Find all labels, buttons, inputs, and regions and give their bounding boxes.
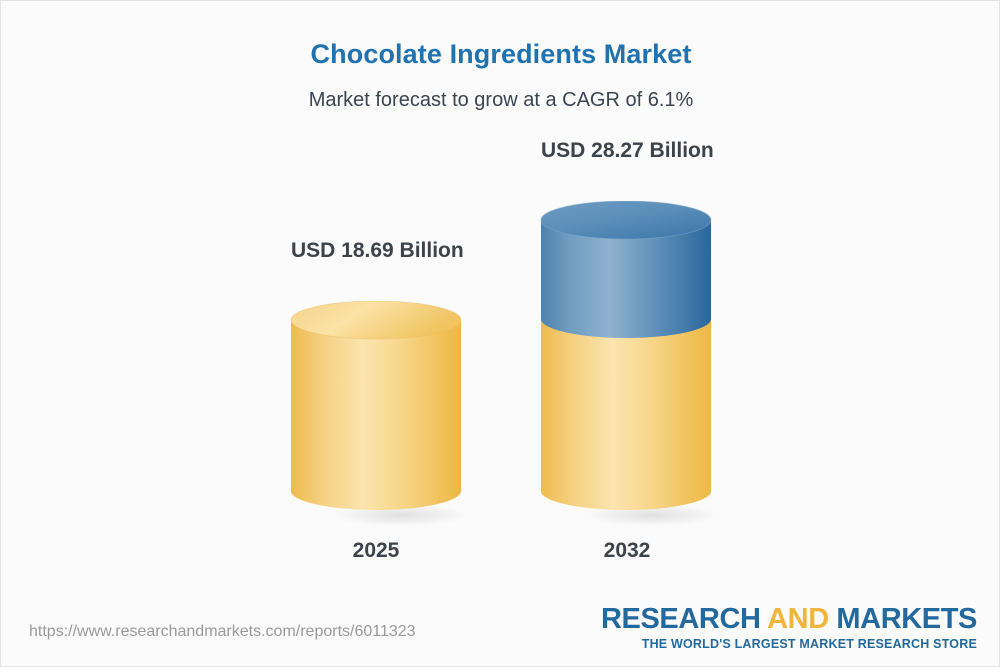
brand-tagline: THE WORLD'S LARGEST MARKET RESEARCH STOR… xyxy=(601,638,977,651)
chart-card: Chocolate Ingredients Market Market fore… xyxy=(0,0,1000,667)
category-label-2032: 2032 xyxy=(541,539,713,563)
bar-group-2025: USD 18.69 Billion xyxy=(291,301,461,511)
brand-wordmark: RESEARCH AND MARKETS xyxy=(601,605,977,634)
brand-logo[interactable]: RESEARCH AND MARKETS THE WORLD'S LARGEST… xyxy=(601,605,977,651)
cylinder-2025 xyxy=(289,301,479,529)
bar-group-2032: USD 28.27 Billion xyxy=(541,201,713,511)
brand-word-and: AND xyxy=(767,603,836,635)
cylinder-2032 xyxy=(539,201,731,529)
value-label-2025: USD 18.69 Billion xyxy=(291,239,461,263)
brand-word-markets: MARKETS xyxy=(836,603,977,635)
value-label-2032: USD 28.27 Billion xyxy=(541,139,713,163)
category-label-2025: 2025 xyxy=(291,539,461,563)
plot-area: USD 18.69 Billion xyxy=(1,1,1000,601)
brand-word-research: RESEARCH xyxy=(601,603,767,635)
source-url[interactable]: https://www.researchandmarkets.com/repor… xyxy=(29,623,416,641)
